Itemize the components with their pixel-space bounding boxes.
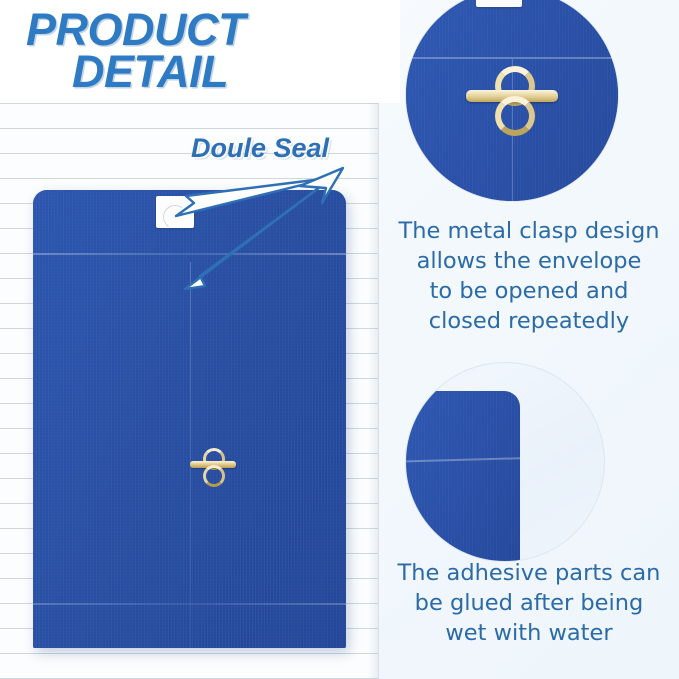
clasp-closeup-ring-bottom: [495, 96, 535, 136]
metal-clasp-icon: [190, 448, 236, 482]
feature-line: The metal clasp design: [379, 216, 679, 246]
clasp-ring-bottom: [203, 465, 225, 487]
clasp-closeup-white-tab-icon: [476, 0, 522, 7]
feature-line: closed repeatedly: [379, 306, 679, 336]
main-envelope: [33, 190, 346, 648]
clasp-closeup-metal-clasp-icon: [466, 68, 558, 124]
feature-line: be glued after being: [379, 588, 679, 618]
feature-text-metal-clasp: The metal clasp design allows the envelo…: [379, 216, 679, 336]
paper-edge-shadow: [368, 103, 378, 679]
feature-text-adhesive: The adhesive parts can be glued after be…: [379, 558, 679, 648]
feature-line: wet with water: [379, 618, 679, 648]
adhesive-closeup-circle: [405, 362, 605, 562]
product-detail-image: Doule Seal PRODUCT DETAIL The metal clas…: [0, 0, 679, 679]
doule-seal-label: Doule Seal: [191, 133, 329, 164]
feature-line: allows the envelope: [379, 246, 679, 276]
clasp-closeup-circle: [405, 0, 619, 202]
envelope-flap-seam: [33, 253, 346, 255]
adhesive-closeup-envelope: [405, 391, 520, 561]
white-tab-icon: [156, 196, 194, 228]
page-title-line-2: DETAIL: [72, 46, 228, 98]
title-block: PRODUCT DETAIL: [0, 0, 400, 103]
feature-line: to be opened and: [379, 276, 679, 306]
feature-column: The metal clasp design allows the envelo…: [379, 0, 679, 679]
feature-line: The adhesive parts can: [379, 558, 679, 588]
